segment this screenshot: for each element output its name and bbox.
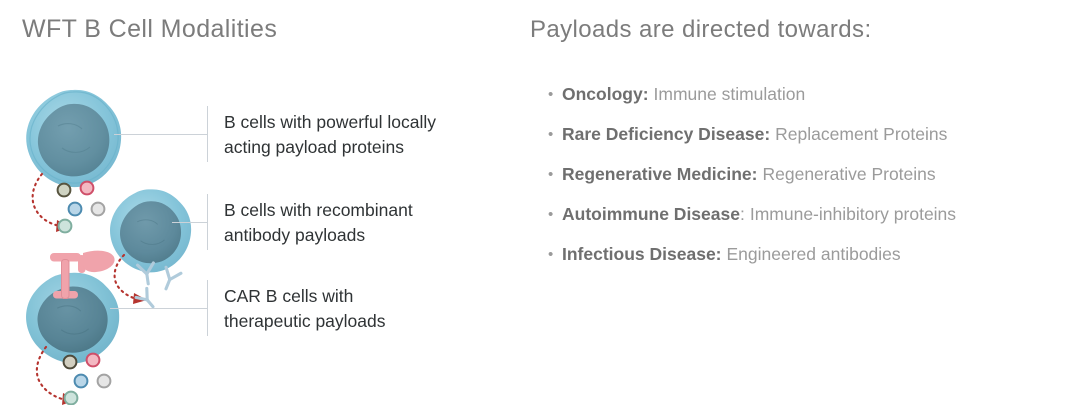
list-item: • Regenerative Medicine : Regenerative P… [548,164,1080,204]
page-title-right: Payloads are directed towards: [530,16,872,44]
payload-targets-list: • Oncology : Immune stimulation • Rare D… [548,84,1080,284]
payload-protein-dots-3 [58,350,132,405]
b-cell-modalities-diagram: B cells with powerful locally acting pay… [0,60,520,405]
list-item-term: Autoimmune Disease [562,204,740,225]
connector-vertical-1 [207,106,208,162]
list-item-term: Infectious Disease [562,244,716,265]
list-item-description: Replacement Proteins [770,124,947,145]
connector-horizontal-3 [110,308,207,309]
antibody-y-shapes-2 [128,260,196,312]
list-item-description: Immune stimulation [649,84,806,105]
list-item-term: Rare Deficiency Disease [562,124,764,145]
bullet-marker-icon: • [548,247,562,262]
connector-vertical-3 [207,280,208,336]
bullet-marker-icon: • [548,127,562,142]
modality-label-2: B cells with recombinant antibody payloa… [224,198,413,248]
car-receptor-icon [44,247,118,303]
list-item-description: Immune-inhibitory proteins [745,204,956,225]
bullet-marker-icon: • [548,87,562,102]
list-item: • Autoimmune Disease : Immune-inhibitory… [548,204,1080,244]
connector-horizontal-1 [114,134,207,135]
connector-vertical-2 [207,194,208,250]
modality-label-3: CAR B cells with therapeutic payloads [224,284,386,334]
list-item-term: Regenerative Medicine [562,164,752,185]
connector-horizontal-2 [172,222,207,223]
modality-label-1: B cells with powerful locally acting pay… [224,110,436,160]
list-item-description: Regenerative Proteins [757,164,935,185]
list-item-description: Engineered antibodies [722,244,901,265]
list-item: • Infectious Disease : Engineered antibo… [548,244,1080,284]
slide-root: WFT B Cell Modalities Payloads are direc… [0,0,1080,405]
list-item-term: Oncology [562,84,643,105]
list-item: • Rare Deficiency Disease : Replacement … [548,124,1080,164]
list-item: • Oncology : Immune stimulation [548,84,1080,124]
bullet-marker-icon: • [548,207,562,222]
bullet-marker-icon: • [548,167,562,182]
page-title-left: WFT B Cell Modalities [22,15,277,44]
